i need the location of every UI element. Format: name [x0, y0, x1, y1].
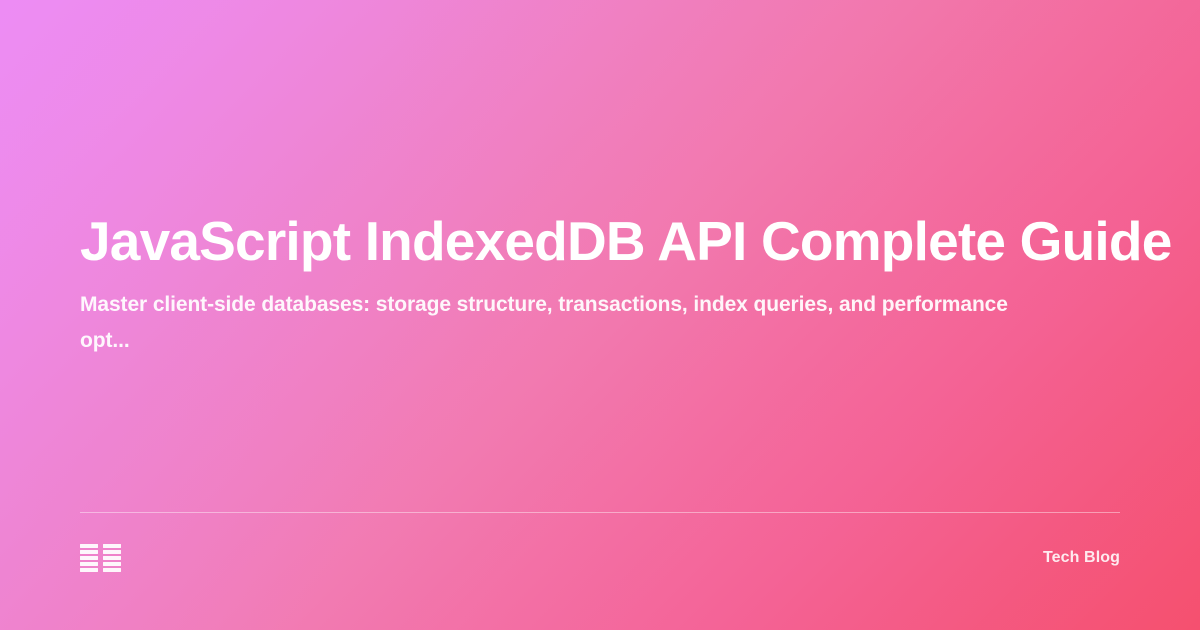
stacked-bars-logo-icon [80, 544, 121, 572]
logo-bar [80, 556, 98, 560]
logo-bar [103, 562, 121, 566]
logo-column-right [103, 544, 121, 572]
logo-column-left [80, 544, 98, 572]
logo-bar [103, 550, 121, 554]
brand-name: Tech Blog [1043, 549, 1120, 567]
logo-bar [103, 556, 121, 560]
logo-bar [80, 562, 98, 566]
logo-bar [103, 544, 121, 548]
logo-bar [80, 568, 98, 572]
logo-bar [80, 544, 98, 548]
headline-block: JavaScript IndexedDB API Complete Guide … [80, 208, 1120, 359]
og-card: JavaScript IndexedDB API Complete Guide … [0, 0, 1200, 630]
card-footer: Tech Blog [80, 512, 1120, 603]
footer-row: Tech Blog [80, 513, 1120, 603]
card-content: JavaScript IndexedDB API Complete Guide … [80, 0, 1120, 630]
page-title: JavaScript IndexedDB API Complete Guide [80, 208, 1120, 274]
logo-bar [80, 550, 98, 554]
logo-bar [103, 568, 121, 572]
page-subtitle: Master client-side databases: storage st… [80, 287, 1060, 359]
